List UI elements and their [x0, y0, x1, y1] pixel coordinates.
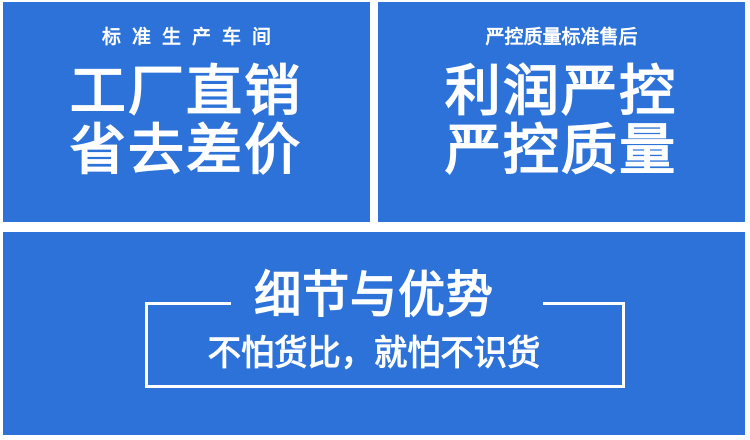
panel-quality-control-headline-line2: 严控质量: [445, 122, 678, 179]
panel-factory-direct: 标准生产车间 工厂直销 省去差价: [3, 2, 370, 222]
panel-quality-control: 严控质量标准售后 利润严控 严控质量: [378, 2, 745, 222]
details-subtitle: 不怕货比，就怕不识货: [22, 337, 727, 372]
top-panel-row: 标准生产车间 工厂直销 省去差价 严控质量标准售后 利润严控 严控质量: [0, 0, 750, 224]
panel-factory-direct-headline-line1: 工厂直销: [70, 63, 303, 120]
panel-factory-direct-eyebrow: 标准生产车间: [91, 28, 282, 47]
details-title: 细节与优势: [25, 270, 722, 320]
panel-quality-control-headline-line1: 利润严控: [445, 63, 678, 120]
panel-factory-direct-headline-line2: 省去差价: [70, 122, 303, 179]
promo-banner: 标准生产车间 工厂直销 省去差价 严控质量标准售后 利润严控 严控质量 细节与优…: [0, 0, 750, 440]
frame-bottom-edge: [145, 385, 625, 388]
panel-details-advantages: 细节与优势 不怕货比，就怕不识货: [3, 232, 745, 435]
panel-quality-control-eyebrow: 严控质量标准售后: [485, 28, 637, 47]
